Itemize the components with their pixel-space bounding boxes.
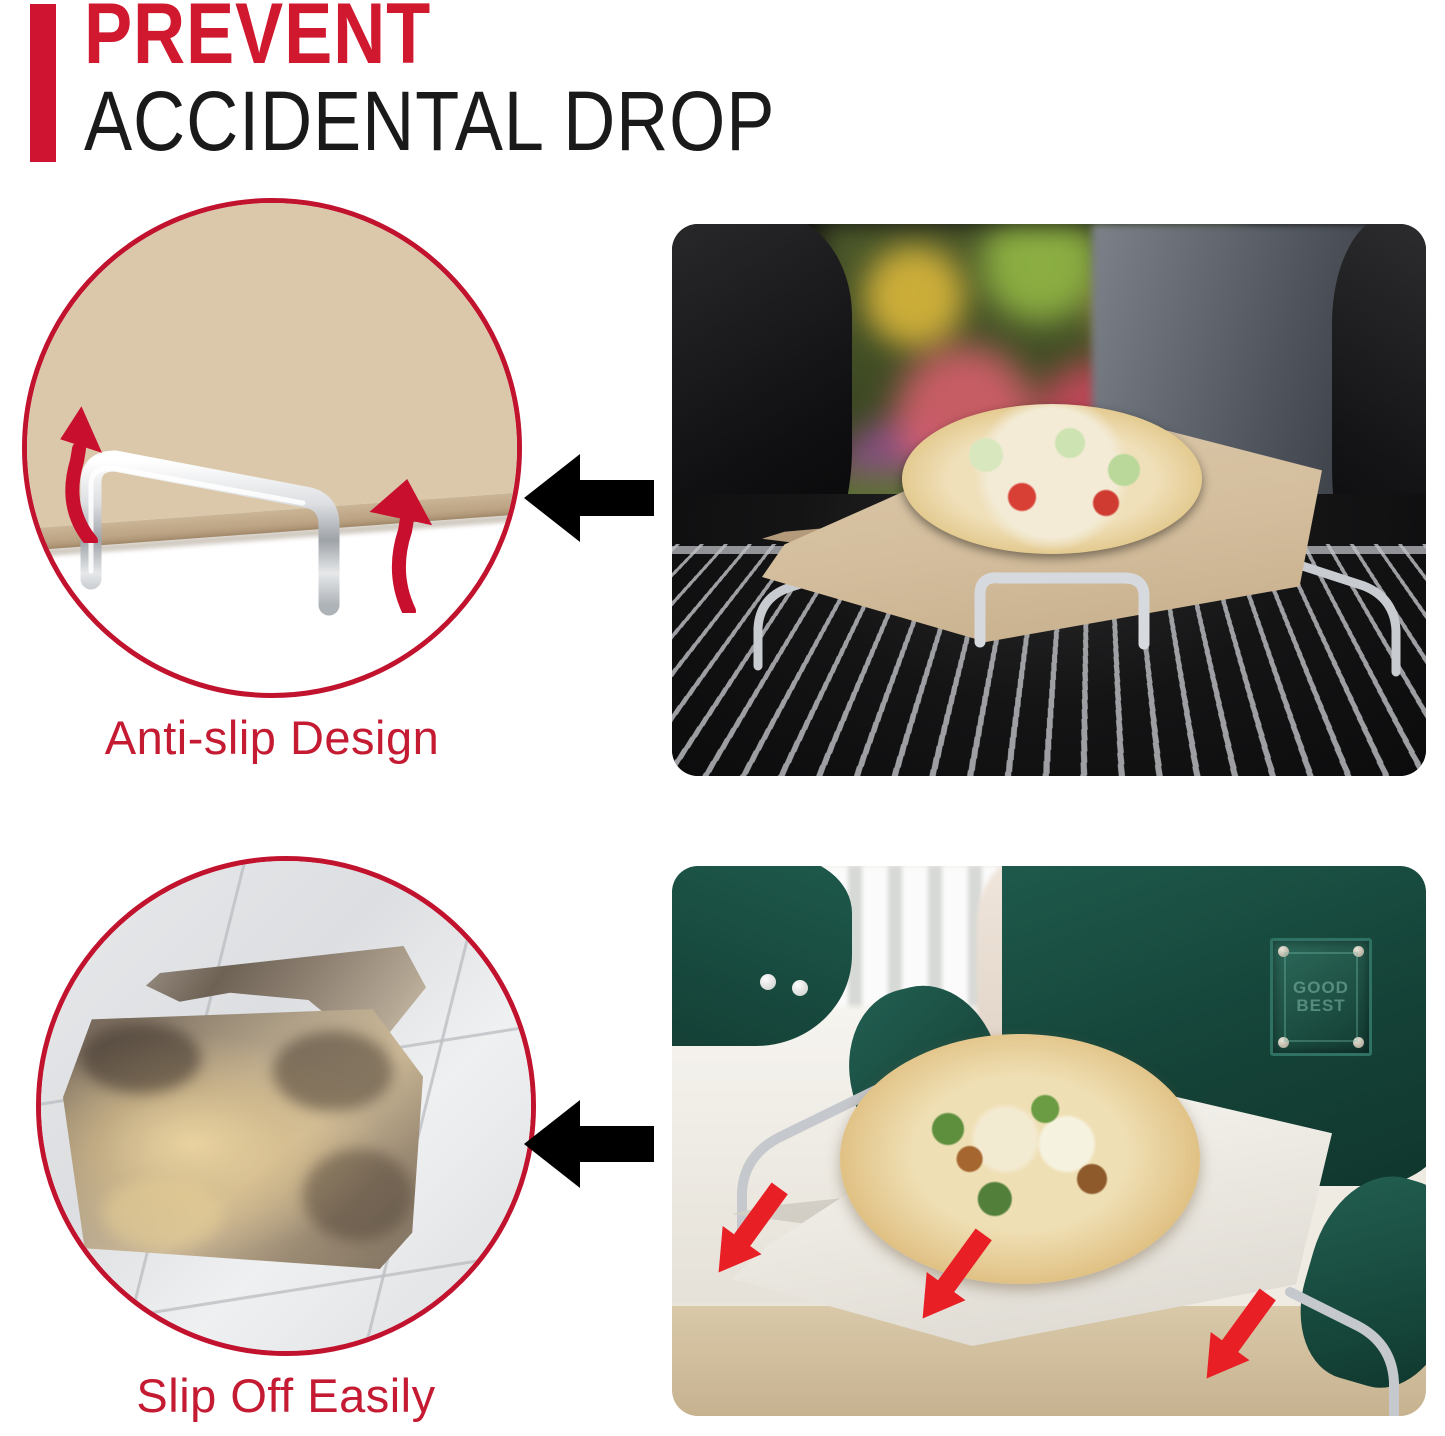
page-title-secondary: ACCIDENTAL DROP [84,79,775,163]
apron-plaque: GOOD BEST [1270,938,1372,1056]
chrome-handle-front-icon [962,564,1162,654]
header-banner: PREVENT ACCIDENTAL DROP [0,0,1445,190]
lift-arrow-left-icon [57,403,147,543]
page-title-primary: PREVENT [84,0,431,77]
accent-bar [30,4,56,162]
plaque-line-2: BEST [1296,997,1345,1015]
margherita-pizza [902,404,1202,554]
caption-anti-slip: Anti-slip Design [22,710,522,765]
callout-circle-slip-off [36,856,536,1356]
slide-arrow-3-icon [1174,1274,1304,1404]
slide-arrow-2-icon [890,1214,1020,1344]
callout-anti-slip: Anti-slip Design [22,198,522,758]
callout-circle-anti-slip [22,198,522,698]
broken-stone-piece-lower [63,1009,423,1269]
pointer-arrow-left-icon-2 [524,1098,654,1190]
pointer-arrow-left-icon [524,452,654,544]
callout-slip-off: Slip Off Easily [36,856,536,1416]
apron-scene-photo: GOOD BEST [672,866,1426,1416]
slide-arrow-1-icon [686,1168,816,1298]
plaque-line-1: GOOD [1293,979,1349,997]
caption-slip-off: Slip Off Easily [36,1368,536,1423]
grill-scene-photo [672,224,1426,776]
lift-arrow-right-icon [367,473,457,613]
